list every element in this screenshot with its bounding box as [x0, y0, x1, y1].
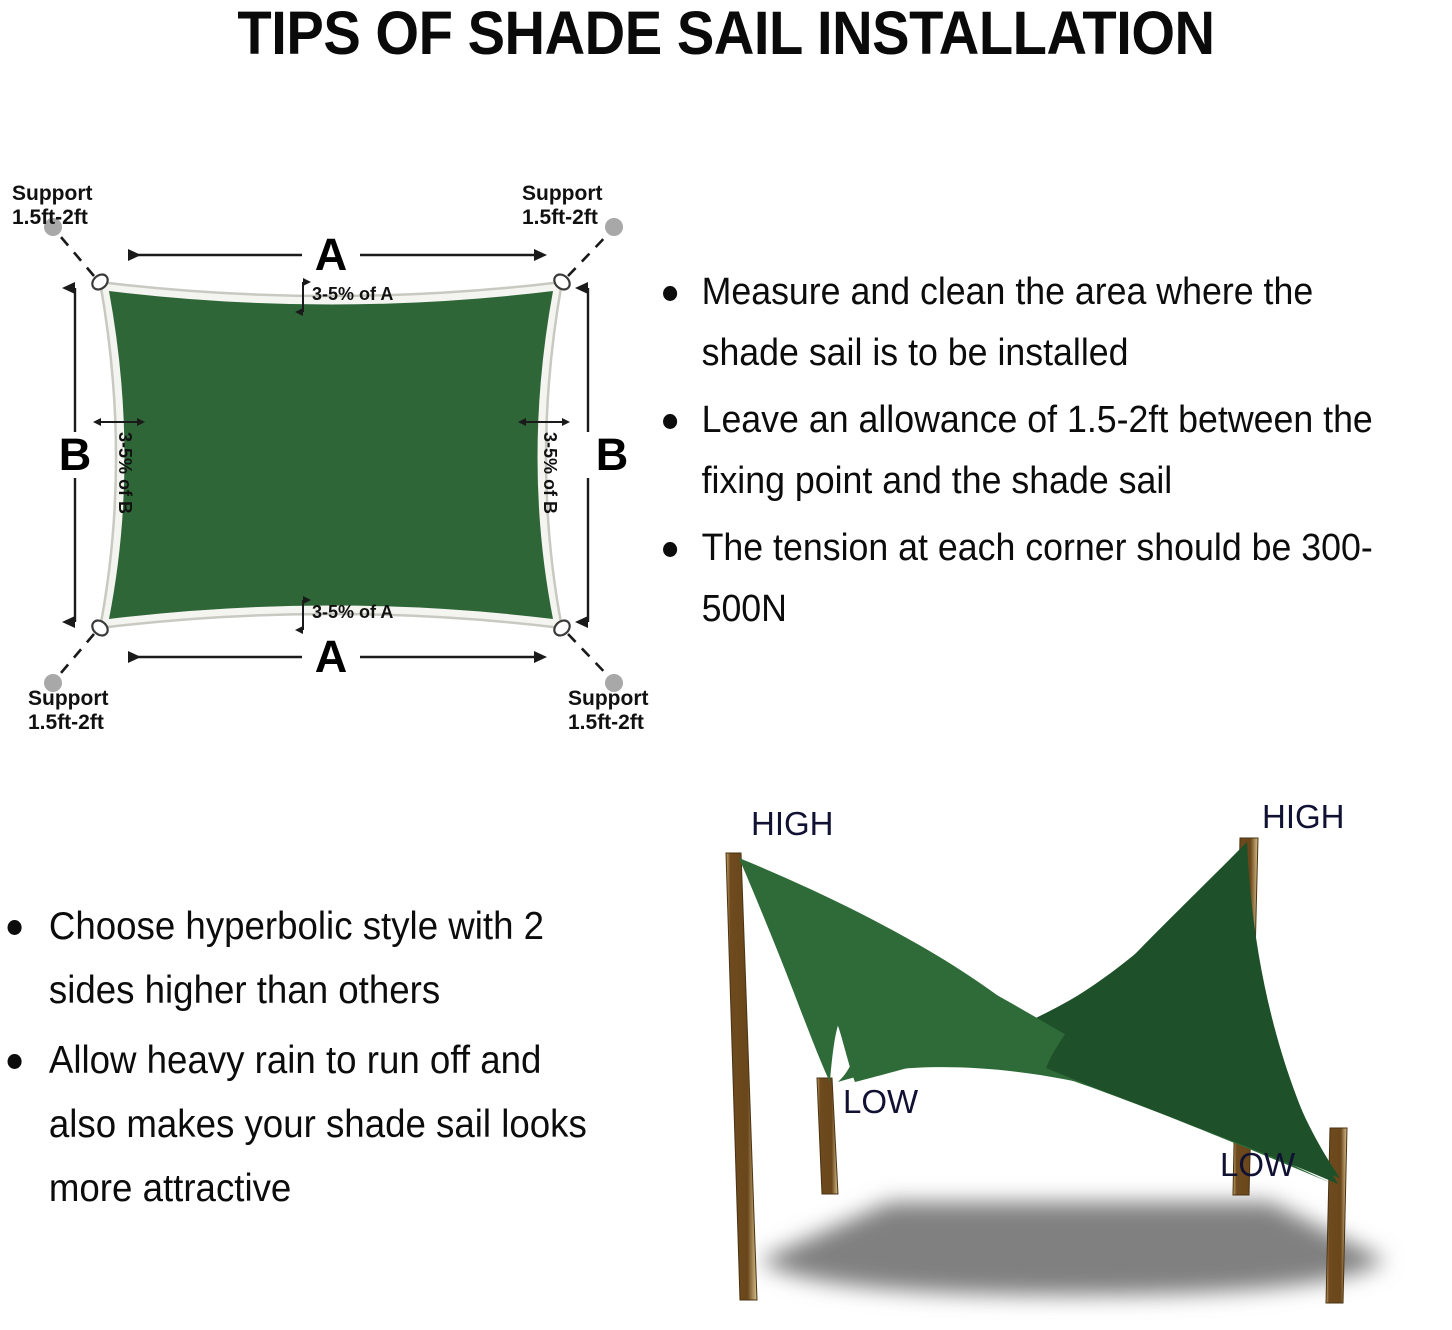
support-label-top-left-line1: Support — [12, 182, 92, 205]
dim-letter-right-B: B — [596, 429, 629, 480]
support-line-top-left — [55, 230, 94, 276]
support-line-bottom-right — [568, 634, 612, 680]
installation-tips-bottom-left-list: Choose hyperbolic style with 2 sides hig… — [0, 895, 630, 1227]
label-low-right: LOW — [1220, 1146, 1296, 1183]
support-line-bottom-left — [55, 634, 94, 680]
support-label-top-left: Support 1.5ft-2ft — [12, 182, 92, 229]
support-label-top-right-line2: 1.5ft-2ft — [522, 206, 598, 229]
tip-item-tension: The tension at each corner should be 300… — [648, 518, 1404, 640]
hyperbolic-sail-diagram: HIGH HIGH LOW LOW — [640, 790, 1452, 1325]
support-label-bottom-left-line1: Support — [28, 687, 108, 710]
tip-item-measure-clean: Measure and clean the area where the sha… — [648, 262, 1404, 384]
tip-text: Measure and clean the area where the sha… — [702, 271, 1314, 374]
bullet-icon — [8, 920, 22, 935]
support-label-bottom-right-line2: 1.5ft-2ft — [568, 711, 644, 734]
post-low-right — [1326, 1128, 1347, 1303]
support-dot-top-right — [605, 218, 623, 236]
support-line-top-right — [568, 230, 612, 276]
tip-item-rain-runoff: Allow heavy rain to run off and also mak… — [0, 1029, 592, 1221]
dim-letter-left-B: B — [59, 429, 92, 480]
curve-label-bottom: 3-5% of A — [312, 602, 393, 622]
curve-label-top: 3-5% of A — [312, 284, 393, 304]
label-high-left: HIGH — [751, 805, 834, 842]
post-low-left — [817, 1078, 838, 1194]
ground-shadow — [760, 1202, 1385, 1295]
post-high-left — [726, 853, 757, 1300]
bullet-icon — [663, 414, 677, 429]
support-label-bottom-left-line2: 1.5ft-2ft — [28, 711, 104, 734]
support-label-bottom-right: Support 1.5ft-2ft — [568, 687, 648, 734]
curve-label-right: 3-5% of B — [540, 432, 560, 514]
sail-fabric — [109, 291, 553, 619]
support-label-top-right-line1: Support — [522, 182, 602, 205]
tip-text: The tension at each corner should be 300… — [702, 527, 1373, 630]
bullet-icon — [663, 542, 677, 557]
tip-text: Choose hyperbolic style with 2 sides hig… — [49, 905, 544, 1012]
dim-letter-bottom-A: A — [315, 631, 348, 682]
dim-letter-top-A: A — [315, 229, 348, 280]
label-low-left: LOW — [843, 1083, 919, 1120]
label-high-right: HIGH — [1262, 798, 1345, 835]
installation-tips-right-list: Measure and clean the area where the sha… — [648, 262, 1452, 646]
support-label-bottom-left: Support 1.5ft-2ft — [28, 687, 108, 734]
curve-label-left: 3-5% of B — [115, 432, 135, 514]
rectangular-sail-diagram: Support 1.5ft-2ft Support 1.5ft-2ft Supp… — [0, 160, 660, 740]
support-label-top-left-line2: 1.5ft-2ft — [12, 206, 88, 229]
bullet-icon — [663, 286, 677, 301]
tip-item-allowance: Leave an allowance of 1.5-2ft between th… — [648, 390, 1404, 512]
support-label-bottom-right-line1: Support — [568, 687, 648, 710]
page-title: TIPS OF SHADE SAIL INSTALLATION — [58, 0, 1394, 66]
support-label-top-right: Support 1.5ft-2ft — [522, 182, 602, 229]
tip-text: Leave an allowance of 1.5-2ft between th… — [702, 399, 1373, 502]
bullet-icon — [8, 1054, 22, 1069]
tip-text: Allow heavy rain to run off and also mak… — [49, 1039, 587, 1210]
tip-item-hyperbolic-style: Choose hyperbolic style with 2 sides hig… — [0, 895, 592, 1023]
